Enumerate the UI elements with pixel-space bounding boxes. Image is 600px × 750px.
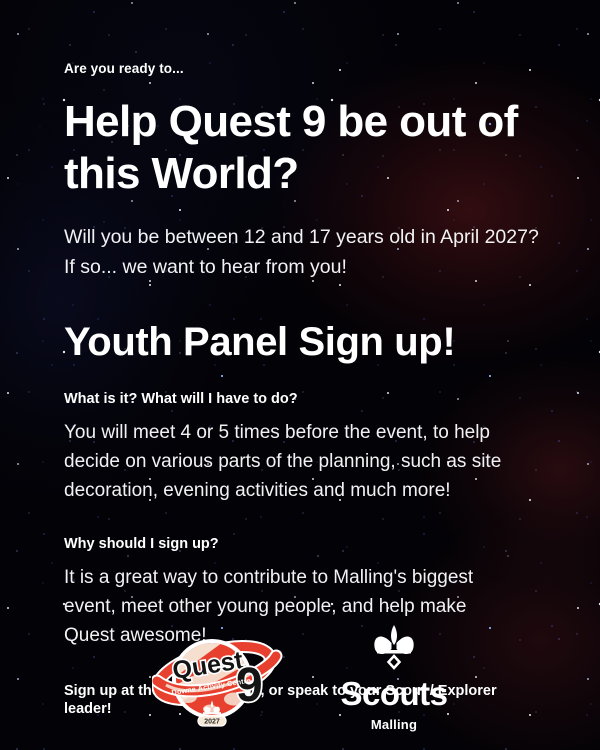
scouts-logo: Scouts Malling	[340, 621, 447, 732]
faq-question: Why should I sign up?	[64, 535, 536, 554]
lede-line-1: Will you be between 12 and 17 years old …	[64, 222, 536, 252]
quest-year-badge: 2027	[198, 716, 226, 726]
faq-answer: You will meet 4 or 5 times before the ev…	[64, 418, 516, 505]
section-title-signup: Youth Panel Sign up!	[64, 320, 536, 364]
headline-line-2: this World?	[64, 148, 524, 200]
fleur-de-lis-icon	[369, 621, 419, 671]
faq-item-what-is-it: What is it? What will I have to do? You …	[64, 390, 536, 505]
headline-line-1: Help Quest 9 be out of	[64, 96, 524, 148]
page-title: Help Quest 9 be out of this World?	[64, 96, 524, 200]
quest-year: 2027	[205, 718, 221, 725]
scouts-wordmark: Scouts	[340, 677, 447, 710]
poster-canvas: Are you ready to... Help Quest 9 be out …	[0, 0, 600, 750]
poster-content: Are you ready to... Help Quest 9 be out …	[0, 0, 600, 719]
scouts-district: Malling	[371, 717, 417, 732]
eyebrow-text: Are you ready to...	[64, 0, 536, 77]
faq-question: What is it? What will I have to do?	[64, 390, 536, 409]
logo-row: Quest 9 Downe Activity Centre 2027	[0, 621, 600, 732]
quest-9-logo: Quest 9 Downe Activity Centre 2027	[152, 623, 284, 731]
lede-paragraph: Will you be between 12 and 17 years old …	[64, 222, 536, 282]
lede-line-2: If so... we want to hear from you!	[64, 252, 536, 282]
